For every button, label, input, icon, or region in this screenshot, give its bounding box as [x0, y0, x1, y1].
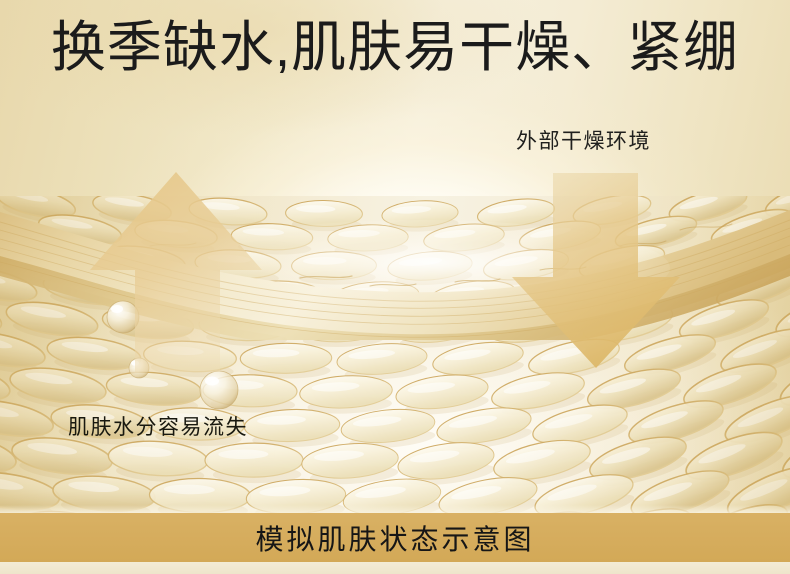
- label-moisture-loss: 肌肤水分容易流失: [68, 415, 248, 441]
- arrow-up-icon: [90, 172, 262, 372]
- arrow-down-icon: [512, 173, 680, 368]
- flow-arrows: [0, 0, 790, 574]
- label-dry-environment: 外部干燥环境: [516, 129, 651, 155]
- skin-diagram-poster: 换季缺水,肌肤易干燥、紧绷 外部干燥环境 肌肤水分容易流失 模拟肌肤状态示意图: [0, 0, 790, 574]
- caption-band-bottom-edge: [0, 562, 790, 574]
- caption-label: 模拟肌肤状态示意图: [0, 513, 790, 562]
- page-title: 换季缺水,肌肤易干燥、紧绷: [0, 17, 790, 77]
